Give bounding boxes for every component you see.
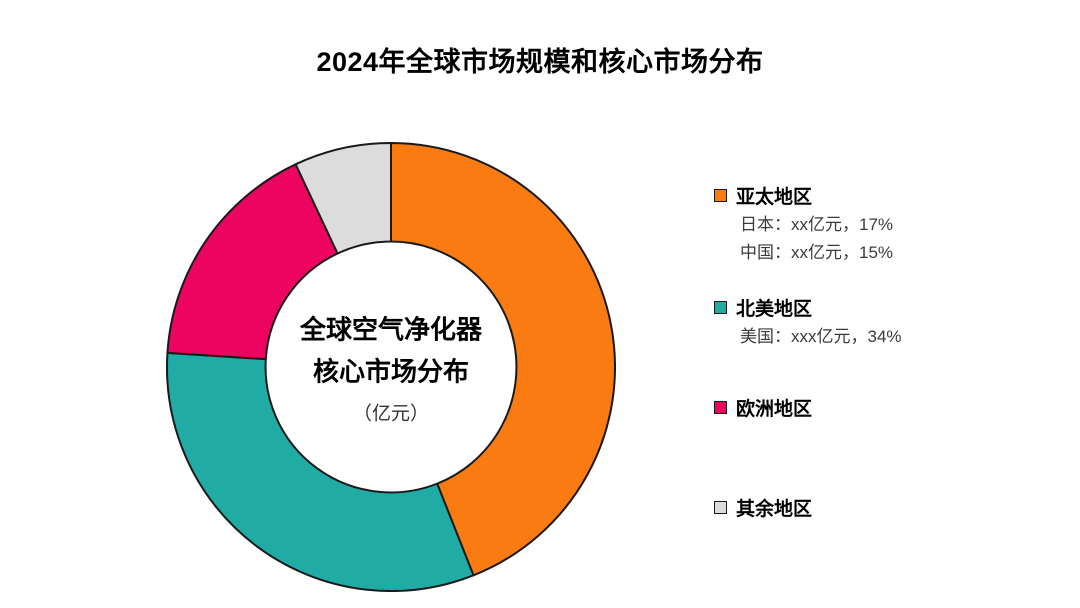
legend-swatch-icon [714,189,727,202]
legend-group-亚太地区[interactable]: 亚太地区日本：xx亿元，17%中国：xx亿元，15% [714,182,893,266]
legend-sub-list: 美国：xxx亿元，34% [740,323,902,351]
legend-group-欧洲地区[interactable]: 欧洲地区 [714,394,812,420]
donut-slice-group [167,143,615,591]
legend-swatch-icon [714,401,727,414]
page-title: 2024年全球市场规模和核心市场分布 [0,40,1080,79]
legend-sub-item: 日本：xx亿元，17% [740,211,893,239]
donut-chart [166,142,616,592]
legend-group-其余地区[interactable]: 其余地区 [714,494,812,520]
legend-label: 亚太地区 [736,182,812,209]
legend-label: 北美地区 [736,294,812,321]
legend-label: 其余地区 [736,494,812,521]
legend-group-北美地区[interactable]: 北美地区美国：xxx亿元，34% [714,294,902,351]
legend-sub-item: 中国：xx亿元，15% [740,239,893,267]
legend-item-其余地区[interactable]: 其余地区 [714,494,812,520]
legend-item-北美地区[interactable]: 北美地区 [714,294,902,320]
donut-svg [166,142,616,592]
legend-label: 欧洲地区 [736,394,812,421]
donut-slice-北美地区[interactable] [167,353,473,591]
legend-swatch-icon [714,301,727,314]
legend-item-欧洲地区[interactable]: 欧洲地区 [714,394,812,420]
legend-sub-list: 日本：xx亿元，17%中国：xx亿元，15% [740,211,893,266]
legend-item-亚太地区[interactable]: 亚太地区 [714,182,893,208]
chart-container: 2024年全球市场规模和核心市场分布 全球空气净化器 核心市场分布 （亿元） 亚… [0,0,1080,608]
legend-sub-item: 美国：xxx亿元，34% [740,323,902,351]
legend-swatch-icon [714,501,727,514]
